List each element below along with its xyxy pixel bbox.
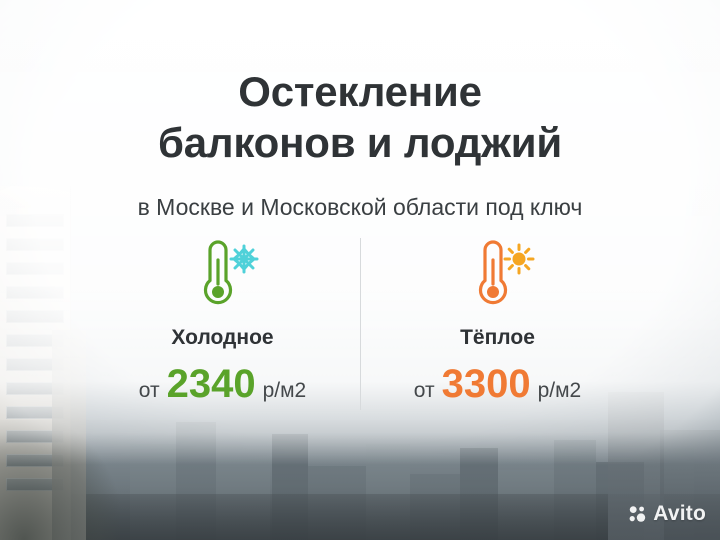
offer-warm: Тёплое от 3300 р/м2	[363, 238, 633, 404]
offer-price: от 3300 р/м2	[363, 364, 633, 404]
promo-image: Остекление балконов и лоджий в Москве и …	[0, 0, 720, 540]
avito-watermark-text: Avito	[653, 502, 706, 526]
thermometer-snowflake-icon	[88, 238, 358, 312]
price-unit: р/м2	[538, 379, 582, 403]
avito-watermark: Avito	[627, 502, 706, 526]
thermometer-sun-icon	[363, 238, 633, 312]
offers-row: Холодное от 2340 р/м2	[0, 238, 720, 410]
offer-title: Тёплое	[363, 326, 633, 350]
price-prefix: от	[414, 379, 435, 403]
offer-title: Холодное	[88, 326, 358, 350]
offers-divider	[360, 238, 361, 410]
headline-line-1: Остекление	[0, 66, 720, 117]
price-value: 3300	[442, 364, 531, 404]
subtitle: в Москве и Московской области под ключ	[0, 192, 720, 222]
avito-dots-logo-icon	[627, 504, 647, 524]
price-value: 2340	[167, 364, 256, 404]
offer-cold: Холодное от 2340 р/м2	[88, 238, 358, 404]
headline-line-2: балконов и лоджий	[0, 117, 720, 168]
price-prefix: от	[139, 379, 160, 403]
headline: Остекление балконов и лоджий	[0, 66, 720, 168]
price-unit: р/м2	[263, 379, 307, 403]
offer-price: от 2340 р/м2	[88, 364, 358, 404]
